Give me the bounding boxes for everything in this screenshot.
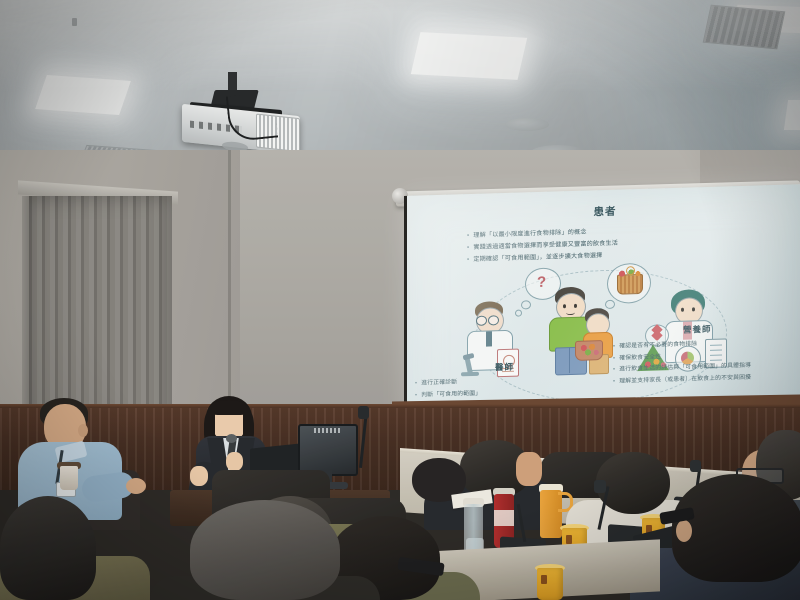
ceiling-projector bbox=[170, 72, 320, 154]
doctor-label: 醫師 bbox=[495, 361, 514, 374]
hand bbox=[190, 466, 208, 486]
ear bbox=[78, 424, 88, 437]
hand bbox=[226, 452, 243, 471]
dietitian-bullet-list: 確認是否有不必要的食物排除 確保飲食安全性 進行飲食生活的評估與「可食用範圍」的… bbox=[613, 338, 751, 388]
coffee-cup bbox=[537, 568, 563, 600]
basket-icon bbox=[617, 274, 643, 295]
food-basket-icon bbox=[575, 340, 603, 361]
face bbox=[516, 452, 542, 486]
microphone-head bbox=[594, 480, 606, 493]
head bbox=[190, 500, 340, 600]
desktop-monitor bbox=[298, 424, 358, 476]
slide-title: 患者 bbox=[421, 199, 789, 225]
conference-room-photo: 患者 理解「以最小限度進行食物排除」的概念 實踐透過適當食物選擇而享受健康又豐富… bbox=[0, 0, 800, 600]
hand bbox=[126, 478, 146, 494]
dietitian-label: 營養師 bbox=[683, 323, 712, 336]
microscope-icon bbox=[459, 355, 481, 376]
head bbox=[596, 452, 670, 514]
ear bbox=[676, 520, 692, 542]
head bbox=[0, 496, 96, 600]
family-figure bbox=[539, 285, 615, 373]
wood-wainscot-top-trim bbox=[0, 404, 800, 408]
microphone-head bbox=[690, 460, 701, 472]
coffee-cup bbox=[60, 466, 78, 490]
glasses-icon bbox=[476, 315, 487, 325]
